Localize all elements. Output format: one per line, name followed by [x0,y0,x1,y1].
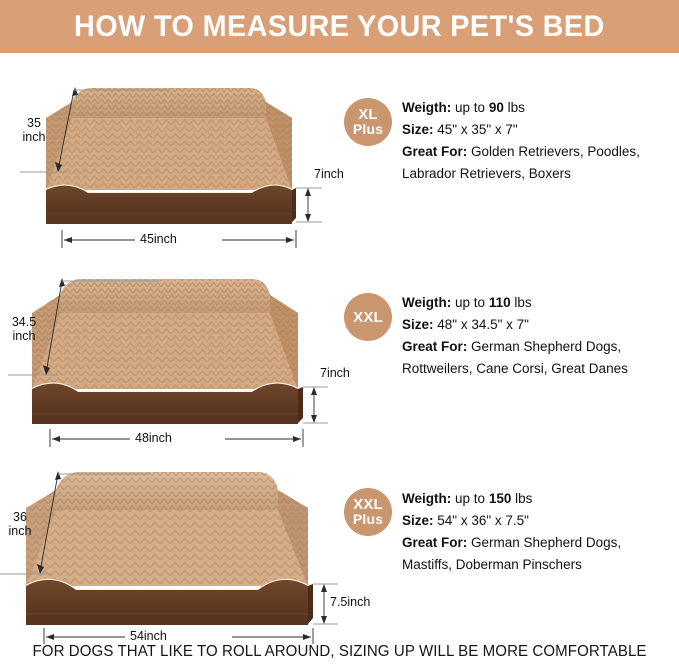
weight-value: 150 [489,491,512,506]
size-row: 36 inch 54inch 7.5inch XXL Plus Weigth: … [0,448,679,638]
size-badge: XXL Plus [344,488,392,536]
weight-unit: lbs [508,100,525,115]
great-for-line-1: Great For: German Shepherd Dogs, [402,532,677,554]
weight-prefix: up to [455,100,485,115]
size-badge: XL Plus [344,98,392,146]
depth-value: 36 [13,510,27,524]
size-value: 45" x 35" x 7" [437,122,517,137]
size-value: 54" x 36" x 7.5" [437,513,529,528]
depth-unit: inch [13,329,36,343]
depth-value: 34.5 [12,315,36,329]
great-for-label: Great For: [402,339,467,354]
great-for-breeds-1: German Shepherd Dogs, [471,535,621,550]
footer-text: FOR DOGS THAT LIKE TO ROLL AROUND, SIZIN… [32,643,646,661]
header-banner: HOW TO MEASURE YOUR PET'S BED [0,0,679,53]
width-dimension-label: 54inch [130,630,167,643]
bed-drawing [0,448,340,638]
depth-dimension-label: 36 inch [0,510,40,538]
size-line: Size: 48" x 34.5" x 7" [402,314,677,336]
great-for-breeds-1: German Shepherd Dogs, [471,339,621,354]
size-row: 34.5 inch 48inch 7inch XXL Weigth: up to… [0,257,679,447]
badge-line-1: XL [358,107,378,122]
page-title: HOW TO MEASURE YOUR PET'S BED [74,10,605,44]
great-for-label: Great For: [402,144,467,159]
badge-line-1: XXL [353,497,383,512]
size-label: Size: [402,513,434,528]
footer: FOR DOGS THAT LIKE TO ROLL AROUND, SIZIN… [0,643,679,661]
spec-block: XXL Plus Weigth: up to 150 lbs Size: 54"… [340,448,679,638]
depth-unit: inch [23,130,46,144]
great-for-label: Great For: [402,535,467,550]
badge-line-2: Plus [353,122,383,137]
size-row: 35 inch 45inch 7inch XL Plus Weigth: up … [0,62,679,252]
badge-line-2: Plus [353,512,383,527]
width-dimension-label: 48inch [135,432,172,445]
size-line: Size: 54" x 36" x 7.5" [402,510,677,532]
weight-label: Weigth: [402,491,451,506]
great-for-line-2: Labrador Retrievers, Boxers [402,163,677,185]
badge-line-1: XXL [353,310,383,325]
weight-prefix: up to [455,491,485,506]
size-line: Size: 45" x 35" x 7" [402,119,677,141]
bed-drawing [0,62,340,252]
spec-block: XL Plus Weigth: up to 90 lbs Size: 45" x… [340,62,679,252]
size-badge: XXL [344,293,392,341]
width-dimension-label: 45inch [140,233,177,246]
size-label: Size: [402,122,434,137]
weight-line: Weigth: up to 90 lbs [402,97,677,119]
weight-prefix: up to [455,295,485,310]
bed-illustration: 36 inch 54inch 7.5inch [0,448,340,638]
weight-line: Weigth: up to 110 lbs [402,292,677,314]
size-value: 48" x 34.5" x 7" [437,317,529,332]
weight-unit: lbs [514,295,531,310]
depth-dimension-label: 35 inch [14,116,54,144]
bed-illustration: 34.5 inch 48inch 7inch [0,257,340,447]
great-for-breeds-1: Golden Retrievers, Poodles, [471,144,640,159]
bed-illustration: 35 inch 45inch 7inch [0,62,340,252]
weight-line: Weigth: up to 150 lbs [402,488,677,510]
weight-unit: lbs [515,491,532,506]
bed-drawing [0,257,340,447]
great-for-line-1: Great For: Golden Retrievers, Poodles, [402,141,677,163]
weight-value: 90 [489,100,504,115]
spec-lines: Weigth: up to 110 lbs Size: 48" x 34.5" … [402,292,677,380]
depth-value: 35 [27,116,41,130]
spec-lines: Weigth: up to 150 lbs Size: 54" x 36" x … [402,488,677,576]
great-for-line-2: Mastiffs, Doberman Pinschers [402,554,677,576]
spec-lines: Weigth: up to 90 lbs Size: 45" x 35" x 7… [402,97,677,185]
weight-label: Weigth: [402,295,451,310]
depth-unit: inch [9,524,32,538]
weight-label: Weigth: [402,100,451,115]
spec-block: XXL Weigth: up to 110 lbs Size: 48" x 34… [340,257,679,447]
depth-dimension-label: 34.5 inch [2,315,46,343]
great-for-line-2: Rottweilers, Cane Corsi, Great Danes [402,358,677,380]
great-for-line-1: Great For: German Shepherd Dogs, [402,336,677,358]
weight-value: 110 [489,295,511,310]
size-label: Size: [402,317,434,332]
